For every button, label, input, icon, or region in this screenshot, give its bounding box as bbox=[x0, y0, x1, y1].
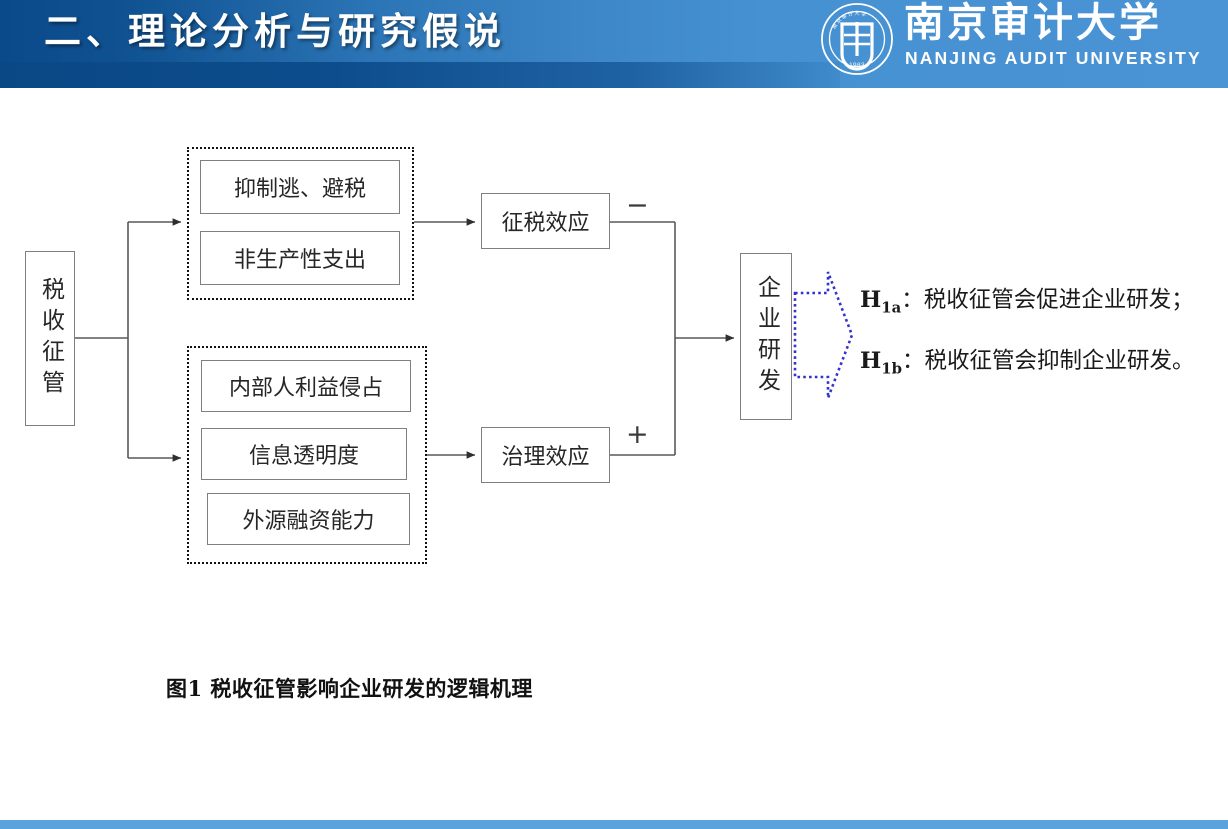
university-name-cn: 南京审计大学 bbox=[904, 0, 1220, 50]
node-curb-tax-evasion-avoidance[interactable]: 抑制逃、避税 bbox=[200, 160, 400, 214]
node-nonproductive-expenditure[interactable]: 非生产性支出 bbox=[200, 231, 400, 285]
node-label: 税收征管 bbox=[39, 277, 62, 401]
hypothesis-h1a-colon: ： bbox=[901, 287, 924, 313]
hypothesis-h1b-sub: 1b bbox=[881, 360, 902, 378]
hypothesis-h1a-text: 税收征管会促进企业研发； bbox=[924, 287, 1194, 313]
node-insider-expropriation[interactable]: 内部人利益侵占 bbox=[201, 360, 411, 412]
svg-text:- 1983 -: - 1983 - bbox=[844, 62, 869, 69]
university-logo: - 1983 - 南京审计大学 南京审计大学 NANJING AUDIT UNI… bbox=[804, 0, 1222, 80]
blue-dotted-block-arrow-icon bbox=[795, 272, 852, 398]
hypothesis-h1b-label: H1b bbox=[860, 348, 902, 374]
node-label: 信息透明度 bbox=[249, 438, 359, 470]
node-label: 企业研发 bbox=[755, 275, 778, 399]
node-label: 治理效应 bbox=[501, 439, 589, 471]
node-label: 征税效应 bbox=[501, 205, 589, 237]
node-firm-rnd[interactable]: 企业研发 bbox=[740, 253, 792, 420]
node-tax-collection-administration[interactable]: 税收征管 bbox=[25, 251, 75, 426]
node-information-transparency[interactable]: 信息透明度 bbox=[201, 428, 407, 480]
node-label: 内部人利益侵占 bbox=[229, 370, 383, 402]
sign-positive: + bbox=[626, 421, 649, 448]
diagram-connectors bbox=[0, 88, 1228, 820]
sign-negative: − bbox=[626, 192, 649, 219]
logic-mechanism-diagram: 税收征管 抑制逃、避税 非生产性支出 内部人利益侵占 信息透明度 外源融资能力 … bbox=[0, 88, 1228, 820]
hypothesis-h1a-sub: 1a bbox=[881, 299, 901, 317]
node-label: 外源融资能力 bbox=[242, 503, 374, 535]
university-name-en: NANJING AUDIT UNIVERSITY bbox=[905, 48, 1221, 69]
slide-header: 二、理论分析与研究假说 - 1983 - 南京审计大学 南京审计大学 NANJI… bbox=[0, 0, 1228, 88]
hypothesis-h1a: H1a：税收征管会促进企业研发； bbox=[860, 289, 1194, 315]
hypothesis-h1b-text: 税收征管会抑制企业研发。 bbox=[925, 348, 1195, 374]
figure-caption: 图1 税收征管影响企业研发的逻辑机理 bbox=[166, 673, 533, 703]
page-title: 二、理论分析与研究假说 bbox=[44, 6, 644, 62]
node-external-financing-capacity[interactable]: 外源融资能力 bbox=[207, 493, 410, 545]
hypothesis-h1b: H1b：税收征管会抑制企业研发。 bbox=[860, 350, 1195, 376]
hypothesis-h1a-label: H1a bbox=[860, 287, 901, 313]
node-label: 抑制逃、避税 bbox=[234, 171, 366, 203]
hypothesis-h1b-colon: ： bbox=[902, 348, 925, 374]
header-underbar bbox=[0, 62, 840, 88]
slide-footer bbox=[0, 820, 1228, 829]
node-label: 非生产性支出 bbox=[234, 242, 366, 274]
node-governance-effect[interactable]: 治理效应 bbox=[481, 427, 610, 483]
university-seal-icon: - 1983 - 南京审计大学 bbox=[820, 2, 894, 76]
node-tax-collection-effect[interactable]: 征税效应 bbox=[481, 193, 610, 249]
